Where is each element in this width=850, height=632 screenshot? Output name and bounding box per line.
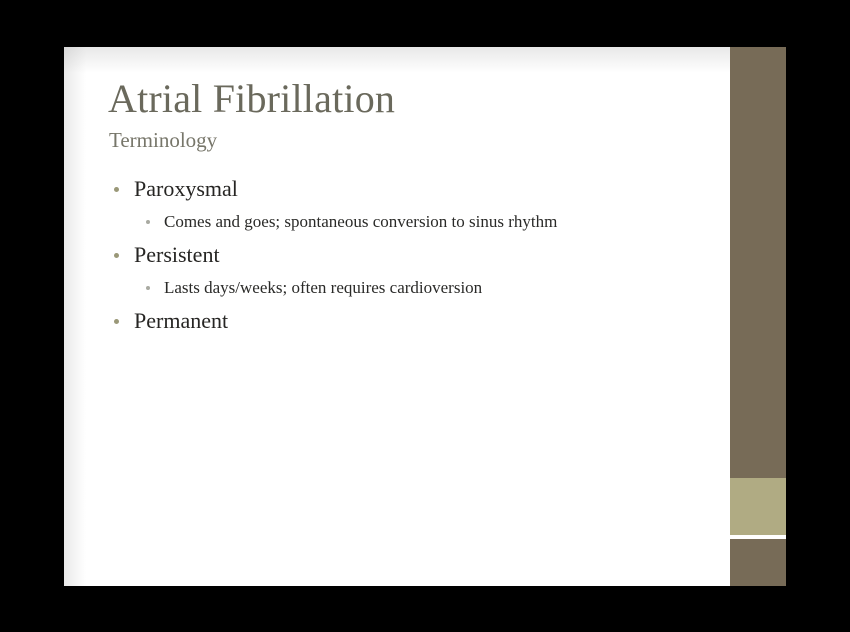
bullet-item-level1: Permanent [106, 305, 716, 337]
bullet-marker-icon [146, 220, 150, 224]
bullet-item-level2: Lasts days/weeks; often requires cardiov… [106, 274, 716, 301]
bullet-marker-icon [146, 286, 150, 290]
bullet-marker-icon [114, 319, 119, 324]
bullet-item-level1: Paroxysmal [106, 173, 716, 205]
bullet-marker-icon [114, 187, 119, 192]
bullet-item-level1: Persistent [106, 239, 716, 271]
slide-subtitle: Terminology [109, 127, 217, 153]
slide-content: Atrial Fibrillation Terminology Paroxysm… [64, 47, 730, 586]
video-letterbox-viewport: Atrial Fibrillation Terminology Paroxysm… [0, 0, 850, 632]
slide-title: Atrial Fibrillation [108, 75, 395, 123]
bullet-marker-icon [114, 253, 119, 258]
presentation-slide: Atrial Fibrillation Terminology Paroxysm… [64, 47, 786, 586]
bullet-text: Paroxysmal [134, 176, 238, 201]
slide-side-accent-block [730, 478, 786, 535]
slide-side-decoration-band [730, 47, 786, 586]
bullet-item-level2: Comes and goes; spontaneous conversion t… [106, 208, 716, 235]
bullet-text: Persistent [134, 242, 220, 267]
bullet-text: Comes and goes; spontaneous conversion t… [164, 212, 557, 231]
slide-side-band-divider [730, 535, 786, 539]
bullet-text: Lasts days/weeks; often requires cardiov… [164, 278, 482, 297]
slide-bullet-list: Paroxysmal Comes and goes; spontaneous c… [106, 173, 716, 340]
bullet-text: Permanent [134, 308, 228, 333]
